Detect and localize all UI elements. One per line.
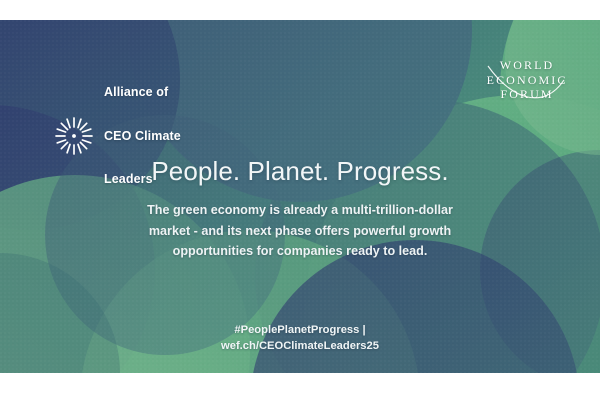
body-line-2: market - and its next phase offers power…	[120, 221, 480, 242]
wef-line-1: WORLD	[480, 58, 572, 73]
footer-url[interactable]: wef.ch/CEOClimateLeaders25	[0, 338, 600, 354]
radial-burst-icon	[54, 116, 94, 156]
slide-content: Alliance of CEO Climate Leaders WORLD EC…	[0, 20, 600, 373]
hashtag-text: #PeoplePlanetProgress |	[0, 322, 600, 338]
alliance-wordmark: Alliance of CEO Climate Leaders	[104, 56, 181, 216]
page-title: People. Planet. Progress.	[0, 156, 600, 186]
body-line-1: The green economy is already a multi-tri…	[120, 200, 480, 221]
wef-line-2: ECONOMIC	[480, 73, 572, 88]
artwork-canvas: Alliance of CEO Climate Leaders WORLD EC…	[0, 20, 600, 373]
footer-block: #PeoplePlanetProgress | wef.ch/CEOClimat…	[0, 322, 600, 354]
slide-frame: Alliance of CEO Climate Leaders WORLD EC…	[0, 0, 600, 400]
body-line-3: opportunities for companies ready to lea…	[120, 241, 480, 262]
wef-line-3: FORUM	[480, 87, 572, 102]
alliance-line-1: Alliance of	[104, 85, 181, 100]
wef-logo[interactable]: WORLD ECONOMIC FORUM	[480, 58, 572, 102]
alliance-line-2: CEO Climate	[104, 129, 181, 144]
alliance-logo[interactable]: Alliance of CEO Climate Leaders	[54, 56, 181, 216]
body-copy: The green economy is already a multi-tri…	[120, 200, 480, 262]
